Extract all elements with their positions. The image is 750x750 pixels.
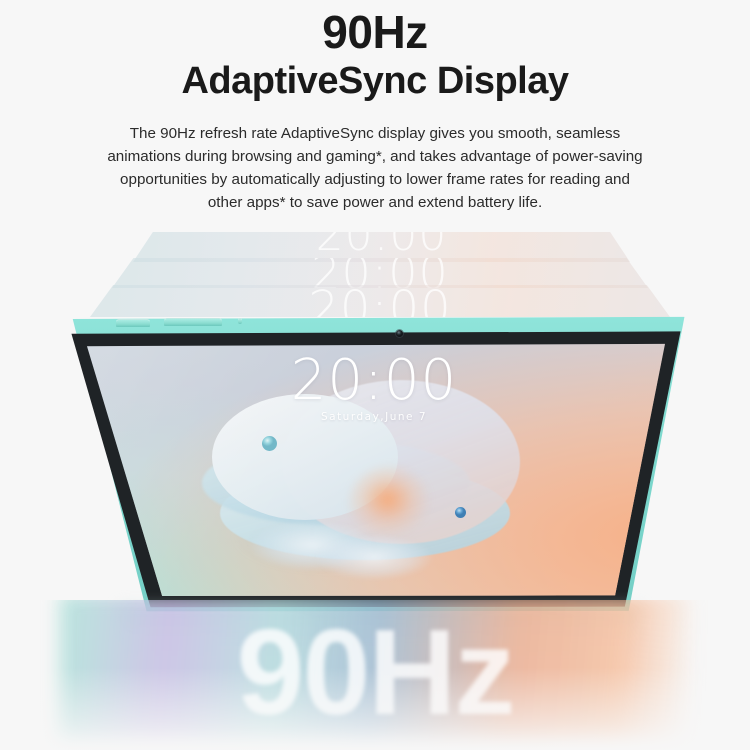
page-title: 90Hz xyxy=(0,8,750,57)
refresh-echo-layer-3: 20:00 xyxy=(90,285,670,317)
hz-watermark: 90Hz xyxy=(0,600,750,750)
echo-clock-time: 20:00 xyxy=(133,232,630,261)
description-line-1: The 90Hz refresh rate AdaptiveSync displ… xyxy=(75,122,675,145)
description-line-2: animations during browsing and gaming*, … xyxy=(75,145,675,168)
volume-down-button[interactable] xyxy=(164,318,222,326)
refresh-echo-layer-1: 20:00 xyxy=(133,232,630,262)
headline-block: 90Hz AdaptiveSync Display xyxy=(0,8,750,104)
product-feature-slide: 90Hz AdaptiveSync Display The 90Hz refre… xyxy=(0,0,750,750)
page-subtitle: AdaptiveSync Display xyxy=(0,59,750,105)
echo-clock-time: 20:00 xyxy=(90,285,670,317)
tablet-device: 20:00 Saturday,June 7 xyxy=(52,316,700,612)
echo-clock-time: 20:00 xyxy=(112,258,648,288)
description-line-4: other apps* to save power and extend bat… xyxy=(75,191,675,214)
wallpaper-sphere-teal xyxy=(262,436,277,451)
feature-description: The 90Hz refresh rate AdaptiveSync displ… xyxy=(75,122,675,214)
wallpaper-sphere-blue xyxy=(455,507,466,518)
description-line-3: opportunities by automatically adjusting… xyxy=(75,168,675,191)
refresh-echo-layer-2: 20:00 xyxy=(112,258,648,288)
watermark-fade-overlay xyxy=(0,600,750,750)
volume-up-button[interactable] xyxy=(116,319,150,327)
front-camera-icon xyxy=(396,330,403,337)
power-button[interactable] xyxy=(238,318,242,324)
wallpaper-disc-lower-2 xyxy=(314,536,434,582)
